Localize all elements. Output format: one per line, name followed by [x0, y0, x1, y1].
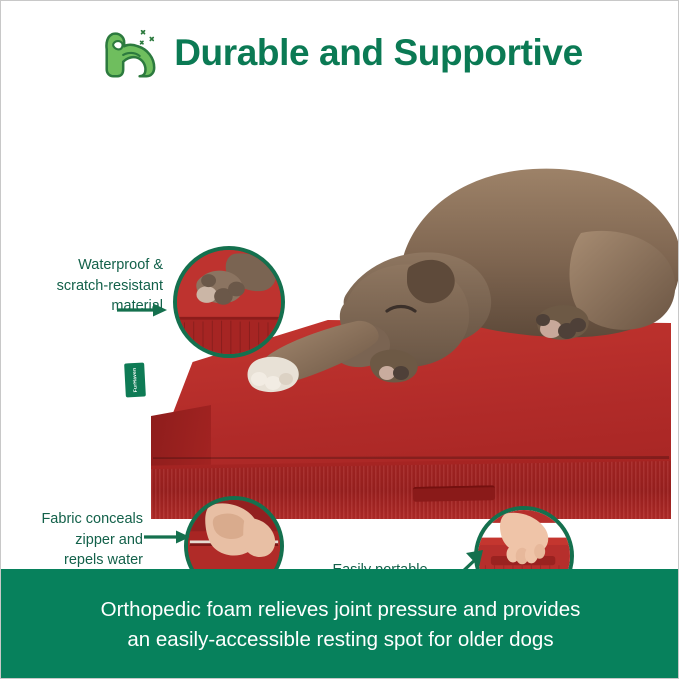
arrow-up-right-icon-handle — [441, 548, 489, 569]
callout-circle-handle — [474, 506, 574, 569]
built-in-handle-slot — [413, 485, 495, 502]
header: Durable and Supportive — [1, 1, 679, 105]
brand-tag: FurHaven — [124, 362, 146, 397]
banner-text: Orthopedic foam relieves joint pressure … — [83, 595, 599, 653]
hand-pulling-zipper-image — [188, 500, 280, 569]
annotation-handle: Easily portable with built-in handle — [316, 560, 444, 569]
flexed-bicep-icon — [98, 23, 160, 85]
infographic-page: Durable and Supportive FurHaven — [0, 0, 679, 679]
arrow-right-icon-waterproof — [117, 302, 169, 318]
brand-tag-label: FurHaven — [131, 368, 138, 393]
paw-on-fabric-image — [177, 250, 281, 354]
callout-circle-zipper — [184, 496, 284, 569]
callout-circle-waterproof — [173, 246, 285, 358]
hand-on-handle-image — [478, 510, 570, 569]
page-title: Durable and Supportive — [174, 32, 583, 74]
product-photo-stage: FurHaven — [1, 105, 679, 569]
bottom-banner: Orthopedic foam relieves joint pressure … — [1, 569, 679, 679]
arrow-right-icon-zipper — [144, 529, 192, 545]
annotation-zipper: Fabric conceals zipper and repels water — [7, 509, 143, 569]
